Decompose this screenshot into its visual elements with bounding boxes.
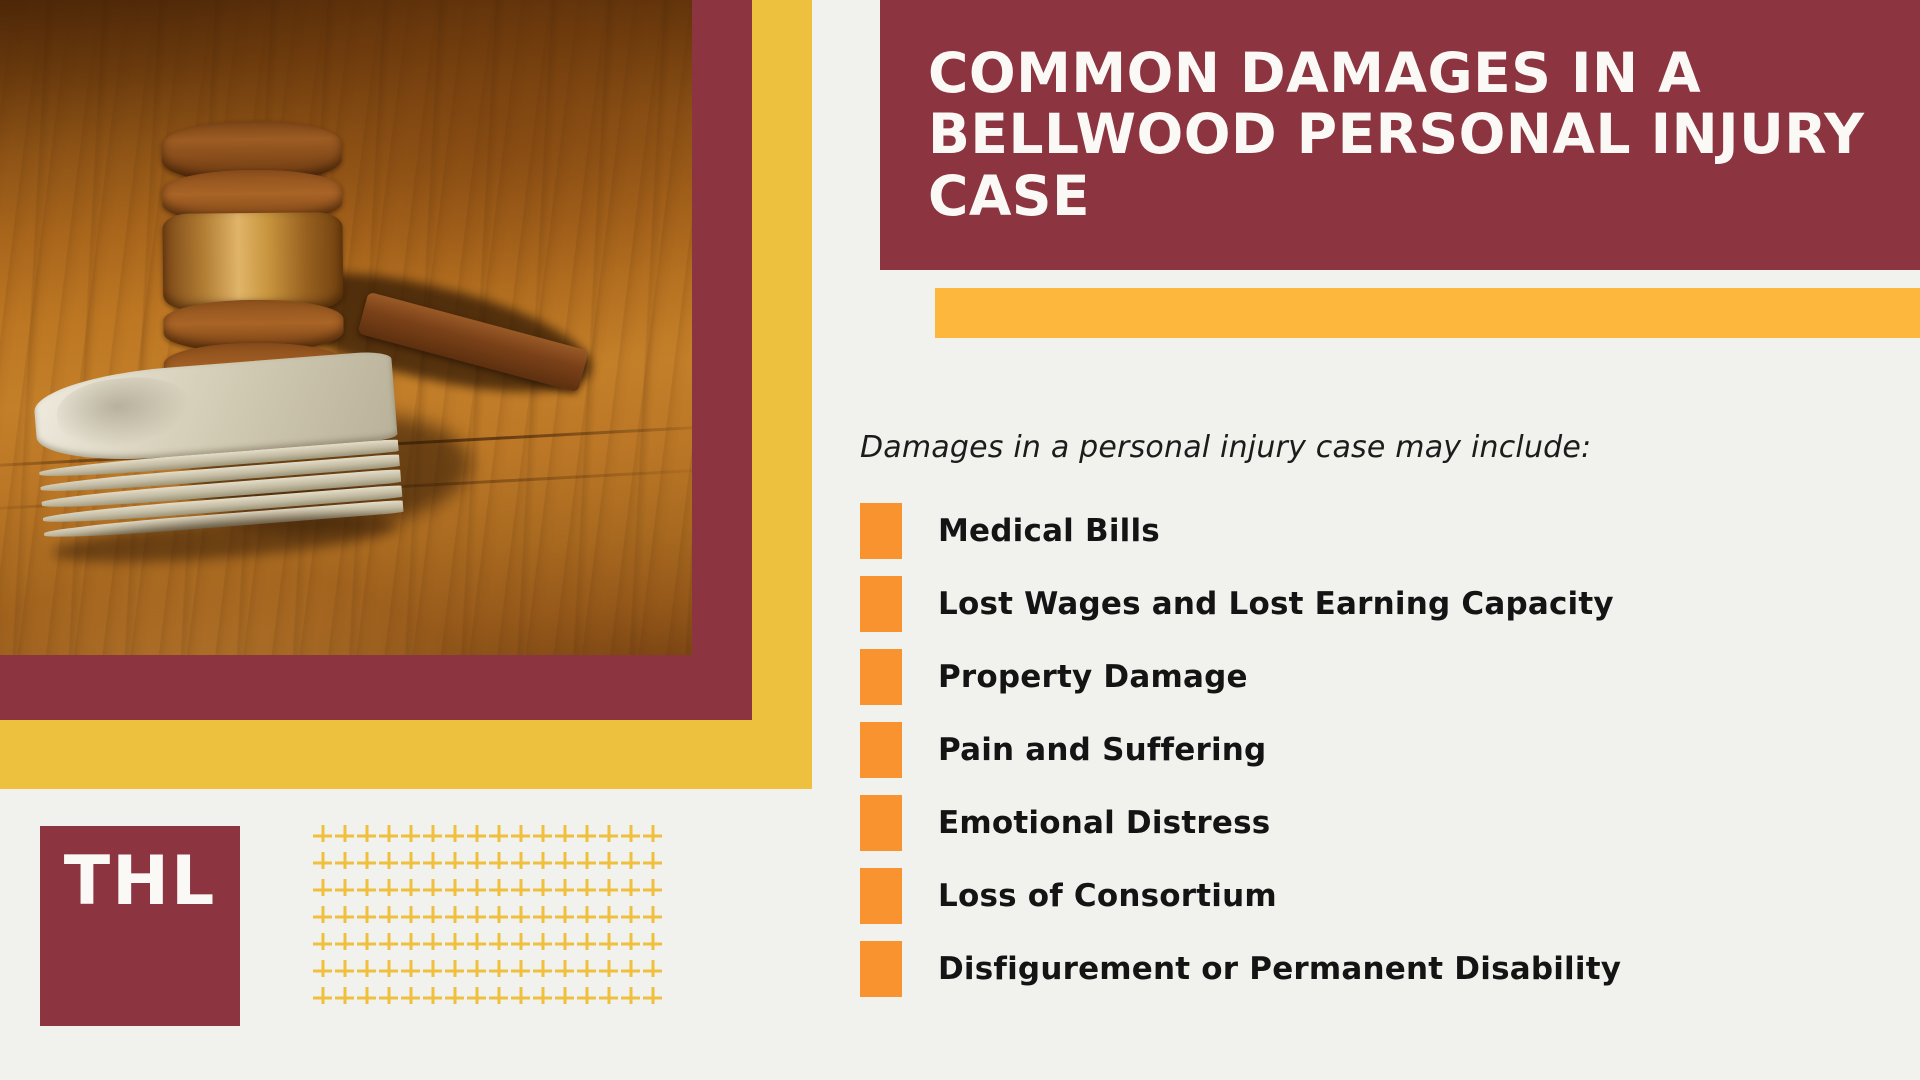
- plus-icon: [356, 876, 378, 903]
- plus-icon: [576, 984, 598, 1011]
- photo-background: [0, 0, 692, 655]
- plus-icon: [488, 876, 510, 903]
- plus-icon: [532, 876, 554, 903]
- plus-icon: [422, 957, 444, 984]
- plus-icon: [510, 822, 532, 849]
- plus-icon: [620, 930, 642, 957]
- plus-icon: [554, 984, 576, 1011]
- plus-icon: [466, 984, 488, 1011]
- gavel-brass-band: [162, 213, 343, 310]
- list-item-label: Pain and Suffering: [938, 732, 1266, 768]
- plus-icon: [510, 957, 532, 984]
- list-item: Medical Bills: [860, 503, 1900, 559]
- list-item-label: Property Damage: [938, 659, 1248, 695]
- plus-icon: [576, 876, 598, 903]
- plus-icon: [378, 903, 400, 930]
- plus-icon: [356, 984, 378, 1011]
- gavel-money-photo: [0, 0, 692, 655]
- plus-icon: [598, 876, 620, 903]
- list-item: Disfigurement or Permanent Disability: [860, 941, 1900, 997]
- list-item-label: Medical Bills: [938, 513, 1160, 549]
- plus-icon: [642, 822, 664, 849]
- lead-paragraph: Damages in a personal injury case may in…: [860, 430, 1900, 465]
- plus-icon: [312, 822, 334, 849]
- plus-icon: [576, 930, 598, 957]
- square-bullet-icon: [860, 576, 902, 632]
- plus-icon: [312, 876, 334, 903]
- plus-icon: [422, 876, 444, 903]
- square-bullet-icon: [860, 795, 902, 851]
- plus-icon: [576, 957, 598, 984]
- thl-logo: THL: [40, 826, 240, 1026]
- plus-icon: [532, 822, 554, 849]
- plus-icon: [334, 849, 356, 876]
- plus-icon: [356, 822, 378, 849]
- plus-icon: [554, 849, 576, 876]
- plus-icon: [510, 903, 532, 930]
- plus-icon: [532, 930, 554, 957]
- plus-icon: [356, 849, 378, 876]
- plus-icon: [510, 876, 532, 903]
- plus-icon: [466, 957, 488, 984]
- list-item: Loss of Consortium: [860, 868, 1900, 924]
- plus-icon: [532, 903, 554, 930]
- plus-icon: [378, 849, 400, 876]
- plus-icon: [466, 903, 488, 930]
- plus-icon: [598, 984, 620, 1011]
- plus-icon: [400, 957, 422, 984]
- plus-icon: [554, 876, 576, 903]
- square-bullet-icon: [860, 868, 902, 924]
- square-bullet-icon: [860, 503, 902, 559]
- list-item: Pain and Suffering: [860, 722, 1900, 778]
- title-bar: Common Damages in a Bellwood Personal In…: [880, 0, 1920, 270]
- list-item: Property Damage: [860, 649, 1900, 705]
- plus-icon: [378, 984, 400, 1011]
- plus-icon: [576, 903, 598, 930]
- plus-icon: [598, 849, 620, 876]
- plus-icon: [466, 822, 488, 849]
- list-item: Lost Wages and Lost Earning Capacity: [860, 576, 1900, 632]
- plus-icon: [488, 822, 510, 849]
- plus-icon: [510, 849, 532, 876]
- plus-icon: [444, 822, 466, 849]
- plus-icon: [334, 876, 356, 903]
- plus-icon: [422, 903, 444, 930]
- plus-icon: [400, 876, 422, 903]
- plus-icon: [510, 984, 532, 1011]
- plus-icon: [400, 984, 422, 1011]
- plus-icon: [378, 930, 400, 957]
- photo-yellow-border: [0, 0, 812, 789]
- plus-icon: [312, 903, 334, 930]
- plus-icon: [576, 849, 598, 876]
- plus-icon: [532, 849, 554, 876]
- plus-icon: [620, 957, 642, 984]
- list-item-label: Lost Wages and Lost Earning Capacity: [938, 586, 1614, 622]
- plus-icon: [554, 903, 576, 930]
- plus-icon: [444, 984, 466, 1011]
- plus-icon: [400, 849, 422, 876]
- plus-icon: [378, 876, 400, 903]
- square-bullet-icon: [860, 722, 902, 778]
- plus-icon: [620, 984, 642, 1011]
- banknote-portrait: [54, 373, 196, 453]
- plus-icon: [642, 903, 664, 930]
- plus-icon: [554, 822, 576, 849]
- square-bullet-icon: [860, 941, 902, 997]
- plus-icon: [598, 903, 620, 930]
- plus-icon: [400, 903, 422, 930]
- plus-icon: [532, 957, 554, 984]
- plus-icon: [334, 930, 356, 957]
- list-item-label: Loss of Consortium: [938, 878, 1277, 914]
- plus-icon: [356, 903, 378, 930]
- cash-stack: [32, 350, 404, 548]
- plus-icon: [642, 984, 664, 1011]
- square-bullet-icon: [860, 649, 902, 705]
- plus-icon: [312, 930, 334, 957]
- plus-icon: [378, 822, 400, 849]
- plus-icon: [444, 876, 466, 903]
- plus-icon: [444, 930, 466, 957]
- plus-icon: [510, 930, 532, 957]
- list-item-label: Emotional Distress: [938, 805, 1270, 841]
- plus-icon: [444, 849, 466, 876]
- logo-text: THL: [64, 842, 217, 921]
- plus-icon: [620, 849, 642, 876]
- plus-icon: [312, 984, 334, 1011]
- plus-icon: [400, 930, 422, 957]
- plus-icon: [422, 849, 444, 876]
- list-item-label: Disfigurement or Permanent Disability: [938, 951, 1621, 987]
- plus-icon: [466, 930, 488, 957]
- plus-icon: [642, 876, 664, 903]
- plus-icon: [422, 930, 444, 957]
- plus-icon: [598, 930, 620, 957]
- plus-icon: [620, 903, 642, 930]
- plus-icon: [356, 957, 378, 984]
- plus-icon: [642, 849, 664, 876]
- content-panel: Damages in a personal injury case may in…: [860, 430, 1900, 1014]
- plus-icon: [488, 957, 510, 984]
- plus-icon: [488, 984, 510, 1011]
- photo-maroon-border: [0, 0, 752, 720]
- plus-icon: [642, 930, 664, 957]
- plus-icon: [422, 822, 444, 849]
- plus-icon: [532, 984, 554, 1011]
- plus-icon: [642, 957, 664, 984]
- plus-icon: [422, 984, 444, 1011]
- plus-icon: [620, 876, 642, 903]
- plus-icon: [444, 957, 466, 984]
- plus-icon: [554, 957, 576, 984]
- plus-icon: [620, 822, 642, 849]
- plus-icon: [554, 930, 576, 957]
- plus-icon: [598, 822, 620, 849]
- plus-icon: [488, 930, 510, 957]
- plus-icon: [334, 903, 356, 930]
- list-item: Emotional Distress: [860, 795, 1900, 851]
- plus-icon: [312, 957, 334, 984]
- orange-accent-bar: [935, 288, 1920, 338]
- plus-icon: [400, 822, 422, 849]
- damages-list: Medical Bills Lost Wages and Lost Earnin…: [860, 503, 1900, 997]
- plus-icon: [576, 822, 598, 849]
- infographic-poster: Common Damages in a Bellwood Personal In…: [0, 0, 1920, 1080]
- plus-icon: [312, 849, 334, 876]
- plus-icon: [466, 849, 488, 876]
- plus-icon: [334, 822, 356, 849]
- plus-icon: [378, 957, 400, 984]
- plus-icon: [466, 876, 488, 903]
- plus-icon: [598, 957, 620, 984]
- plus-icon: [334, 957, 356, 984]
- plus-icon: [488, 903, 510, 930]
- plus-icon: [334, 984, 356, 1011]
- plus-pattern-decoration: [312, 822, 664, 1011]
- plus-icon: [444, 903, 466, 930]
- plus-icon: [356, 930, 378, 957]
- page-title: Common Damages in a Bellwood Personal In…: [880, 43, 1920, 228]
- plus-icon: [488, 849, 510, 876]
